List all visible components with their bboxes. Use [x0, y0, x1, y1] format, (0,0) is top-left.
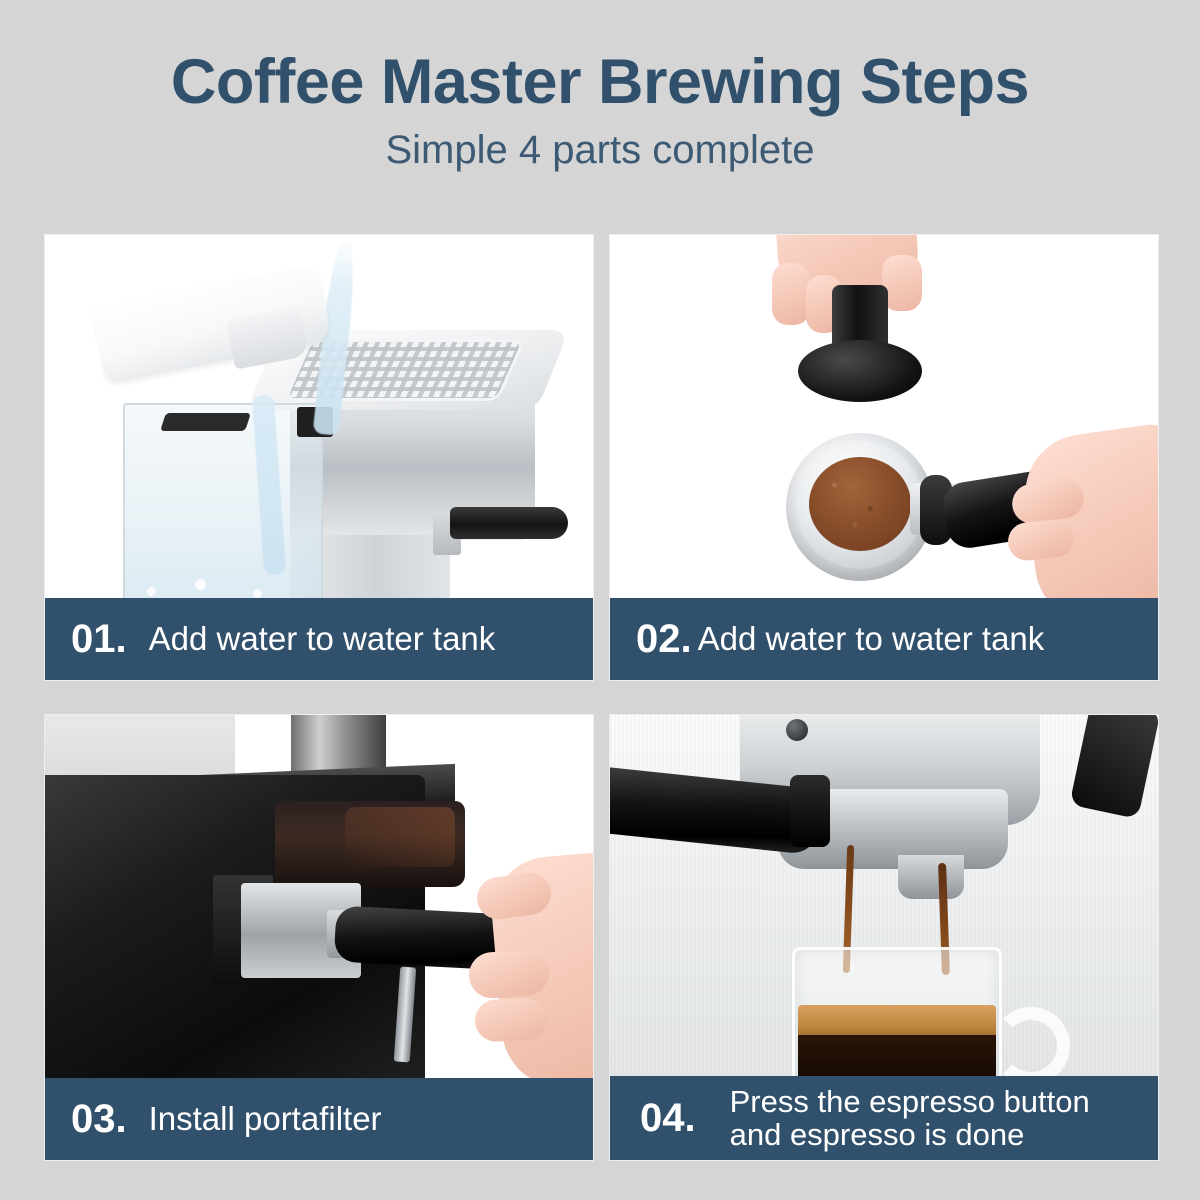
step-03-number: 03. [71, 1099, 127, 1139]
tamper-base-icon [798, 340, 922, 402]
page-title: Coffee Master Brewing Steps [0, 48, 1200, 116]
steps-grid: 01. Add water to water tank [45, 235, 1158, 1160]
step-04-number: 04. [640, 1098, 696, 1138]
step-card-01[interactable]: 01. Add water to water tank [45, 235, 593, 680]
step-04-text-line2: and espresso is done [730, 1117, 1025, 1152]
crema-icon [798, 1005, 996, 1039]
spout-icon [898, 855, 964, 899]
step-02-caption: 02. Add water to water tank [610, 598, 1158, 680]
step-02-number: 02. [636, 619, 692, 659]
step-01-number: 01. [71, 619, 127, 659]
step-01-text: Add water to water tank [149, 621, 593, 657]
step-card-02[interactable]: 02. Add water to water tank [610, 235, 1158, 680]
step-03-text: Install portafilter [149, 1101, 593, 1137]
coffee-grounds-icon [809, 457, 911, 551]
page-subtitle: Simple 4 parts complete [0, 128, 1200, 172]
header: Coffee Master Brewing Steps Simple 4 par… [0, 48, 1200, 172]
steam-wand-icon [450, 507, 568, 539]
step-02-text: Add water to water tank [698, 621, 1158, 657]
step-card-04[interactable]: 04. Press the espresso button and espres… [610, 715, 1158, 1160]
step-03-caption: 03. Install portafilter [45, 1078, 593, 1160]
step-01-caption: 01. Add water to water tank [45, 598, 593, 680]
step-card-03[interactable]: 03. Install portafilter [45, 715, 593, 1160]
step-04-text: Press the espresso button and espresso i… [730, 1085, 1158, 1152]
step-04-caption: 04. Press the espresso button and espres… [610, 1076, 1158, 1160]
indicator-light-icon [786, 719, 808, 741]
step-04-text-line1: Press the espresso button [730, 1084, 1090, 1119]
infographic-page: Coffee Master Brewing Steps Simple 4 par… [0, 0, 1200, 1200]
